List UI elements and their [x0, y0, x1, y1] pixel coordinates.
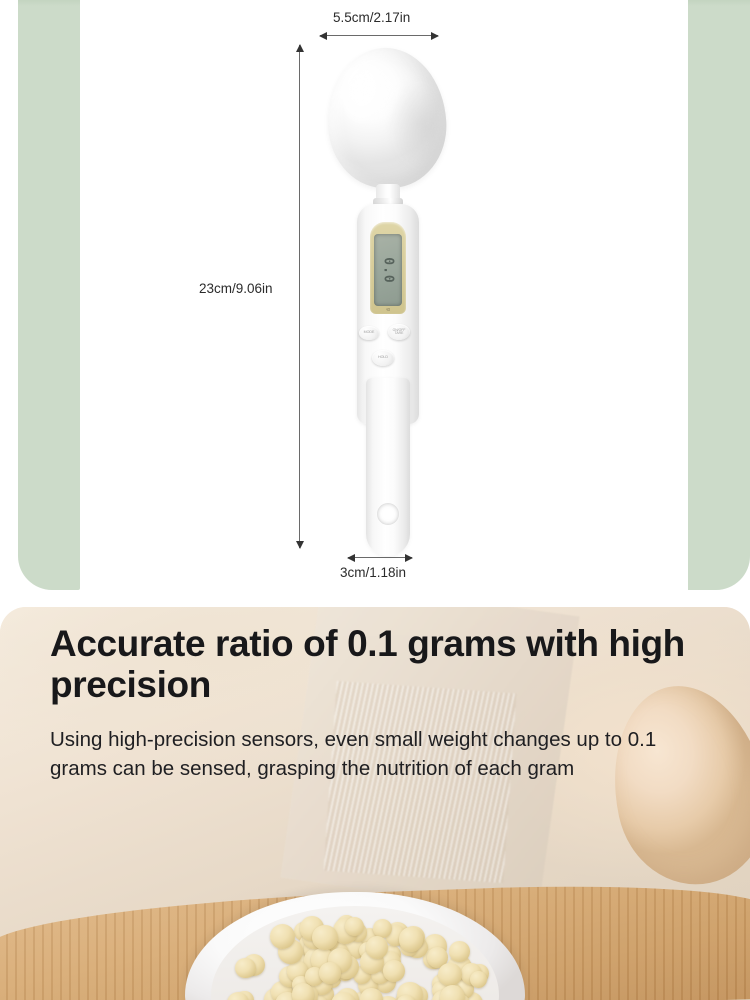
soybean: [292, 983, 314, 1000]
feature-headline: Accurate ratio of 0.1 grams with high pr…: [50, 623, 690, 706]
decorative-panel-left: [18, 0, 80, 590]
soybean: [345, 917, 364, 936]
lcd-weight-value: 0.0: [380, 257, 395, 283]
mode-button[interactable]: MODE: [359, 326, 379, 340]
soybean: [399, 927, 423, 951]
decorative-panel-right: [688, 0, 750, 590]
digital-measuring-spoon-scale: 0.0 g MODE ON/OFF TARE HOLD: [330, 48, 450, 553]
spoon-bowl: [324, 45, 449, 191]
height-dimension-arrow: [299, 45, 300, 548]
bowl-interior-with-soybeans: [211, 906, 499, 1000]
width-dimension-label: 5.5cm/2.17in: [333, 10, 410, 25]
feature-body-text: Using high-precision sensors, even small…: [50, 725, 700, 783]
lcd-unit-label: g: [387, 296, 392, 324]
soybean: [235, 958, 256, 979]
soybean: [270, 924, 295, 949]
product-diagram-panel: 5.5cm/2.17in 23cm/9.06in 3cm/1.18in 0.0 …: [0, 0, 750, 600]
handle-hanging-hole: [377, 503, 399, 525]
hold-button[interactable]: HOLD: [372, 350, 394, 366]
height-dimension-label: 23cm/9.06in: [199, 281, 273, 296]
hold-button-label: HOLD: [378, 356, 388, 360]
feature-photo-panel: Accurate ratio of 0.1 grams with high pr…: [0, 607, 750, 1000]
product-detail-page: 5.5cm/2.17in 23cm/9.06in 3cm/1.18in 0.0 …: [0, 0, 750, 1000]
scale-handle: [366, 378, 410, 556]
width-dimension-arrow: [320, 35, 438, 36]
spoon-bowl-shadow: [384, 75, 441, 174]
soybean: [383, 960, 405, 982]
on-off-tare-button[interactable]: ON/OFF TARE: [388, 324, 410, 340]
lcd-bezel: 0.0 g: [370, 222, 406, 314]
on-off-tare-button-label-line2: TARE: [393, 332, 406, 335]
handle-width-dimension-arrow: [348, 557, 412, 558]
mode-button-label: MODE: [364, 331, 375, 335]
handle-width-dimension-label: 3cm/1.18in: [340, 565, 406, 580]
soybean: [438, 963, 462, 987]
soybean: [470, 971, 487, 988]
